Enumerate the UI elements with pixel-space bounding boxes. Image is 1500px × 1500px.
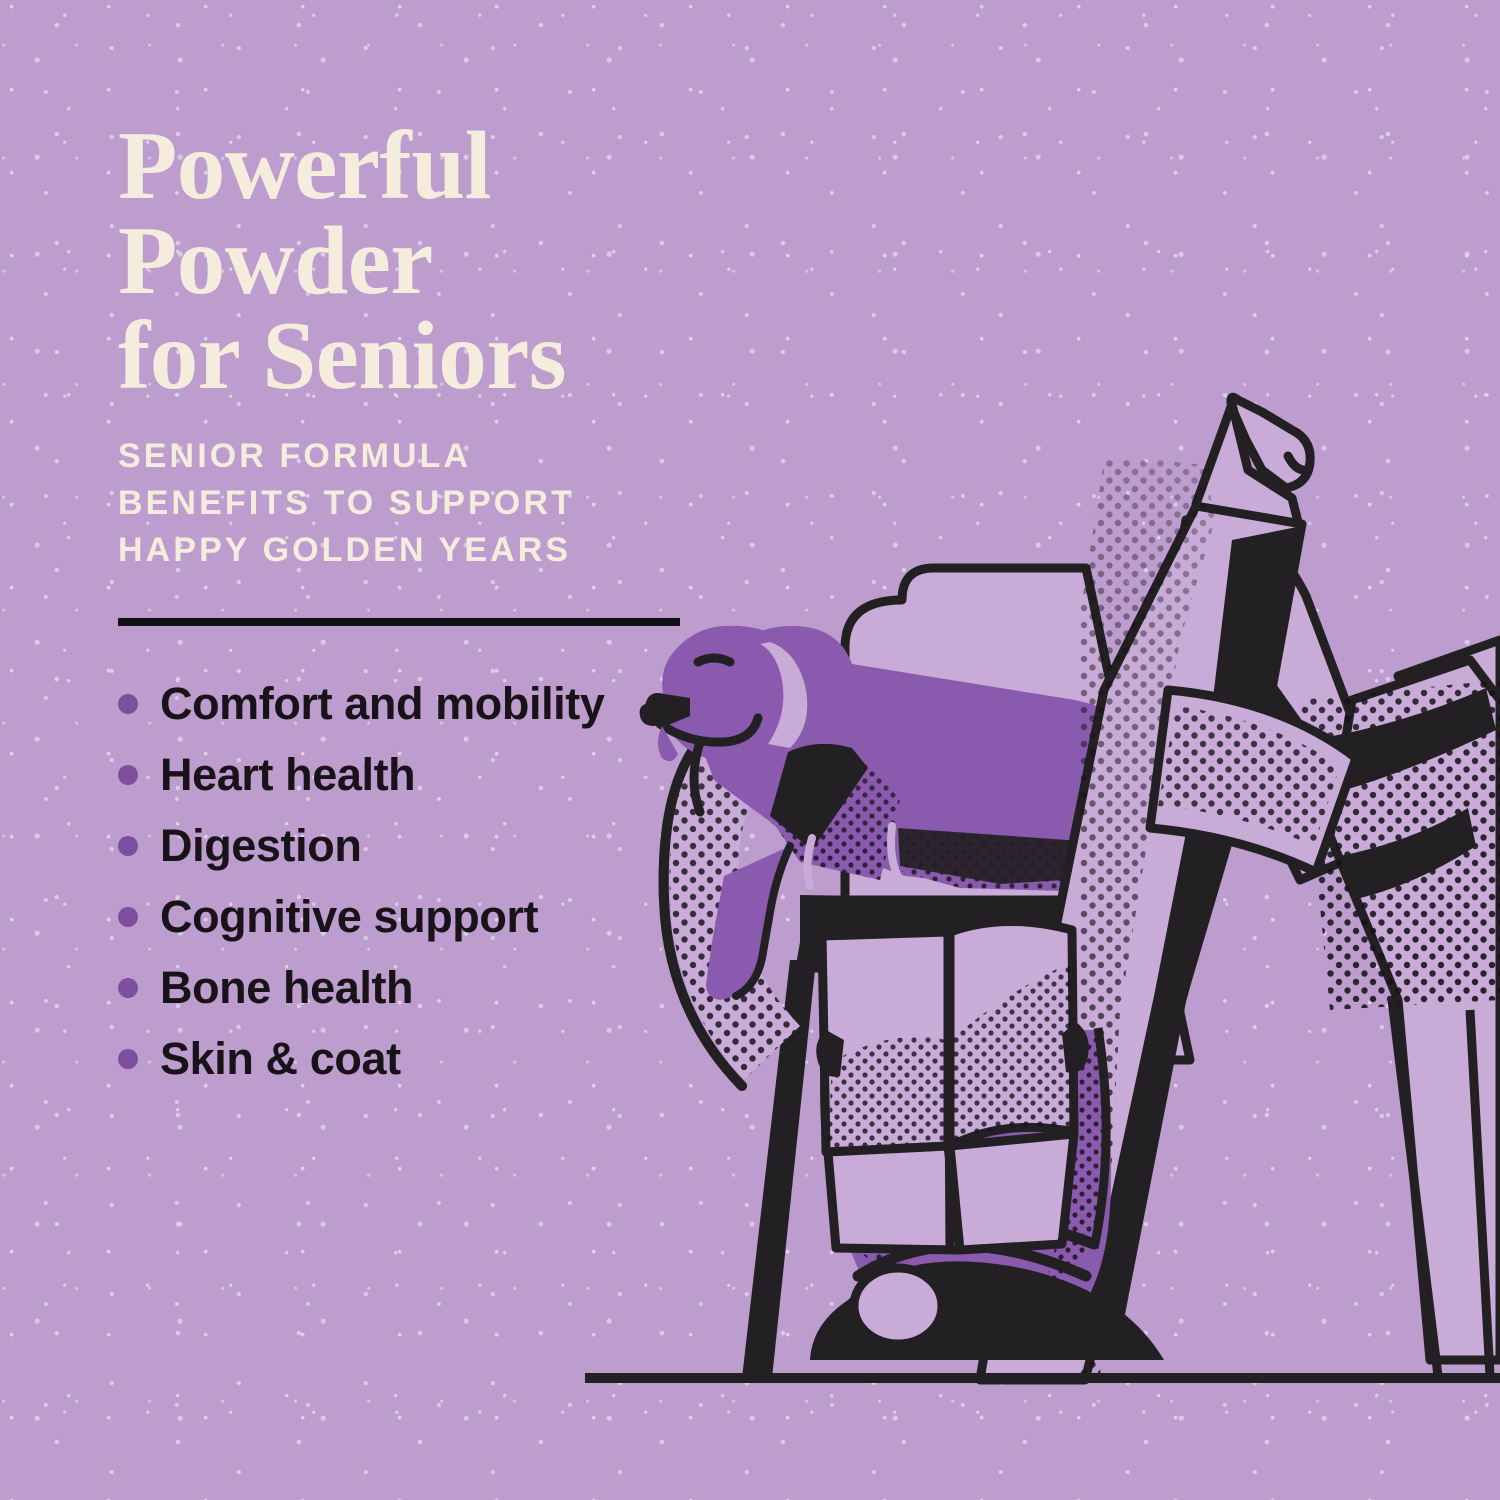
- bullet-dot-icon: [118, 907, 138, 927]
- list-item: Digestion: [118, 812, 718, 880]
- bullet-dot-icon: [118, 765, 138, 785]
- page-title: Powerful Powder for Seniors: [118, 118, 718, 403]
- bullet-dot-icon: [118, 836, 138, 856]
- benefit-label: Digestion: [160, 820, 361, 872]
- page-subtitle: SENIOR FORMULA BENEFITS TO SUPPORT HAPPY…: [118, 433, 718, 574]
- benefits-list: Comfort and mobility Heart health Digest…: [118, 670, 718, 1093]
- list-item: Comfort and mobility: [118, 670, 718, 738]
- list-item: Bone health: [118, 954, 718, 1022]
- benefit-label: Comfort and mobility: [160, 678, 604, 730]
- bullet-dot-icon: [118, 694, 138, 714]
- poster-canvas: Powerful Powder for Seniors SENIOR FORMU…: [0, 0, 1500, 1500]
- list-item: Heart health: [118, 741, 718, 809]
- benefit-label: Bone health: [160, 962, 413, 1014]
- benefit-label: Cognitive support: [160, 891, 538, 943]
- list-item: Skin & coat: [118, 1025, 718, 1093]
- bullet-dot-icon: [118, 978, 138, 998]
- bullet-dot-icon: [118, 1049, 138, 1069]
- benefit-label: Skin & coat: [160, 1033, 401, 1085]
- divider-rule: [118, 618, 680, 626]
- list-item: Cognitive support: [118, 883, 718, 951]
- text-content-column: Powerful Powder for Seniors SENIOR FORMU…: [118, 118, 718, 1096]
- benefit-label: Heart health: [160, 749, 415, 801]
